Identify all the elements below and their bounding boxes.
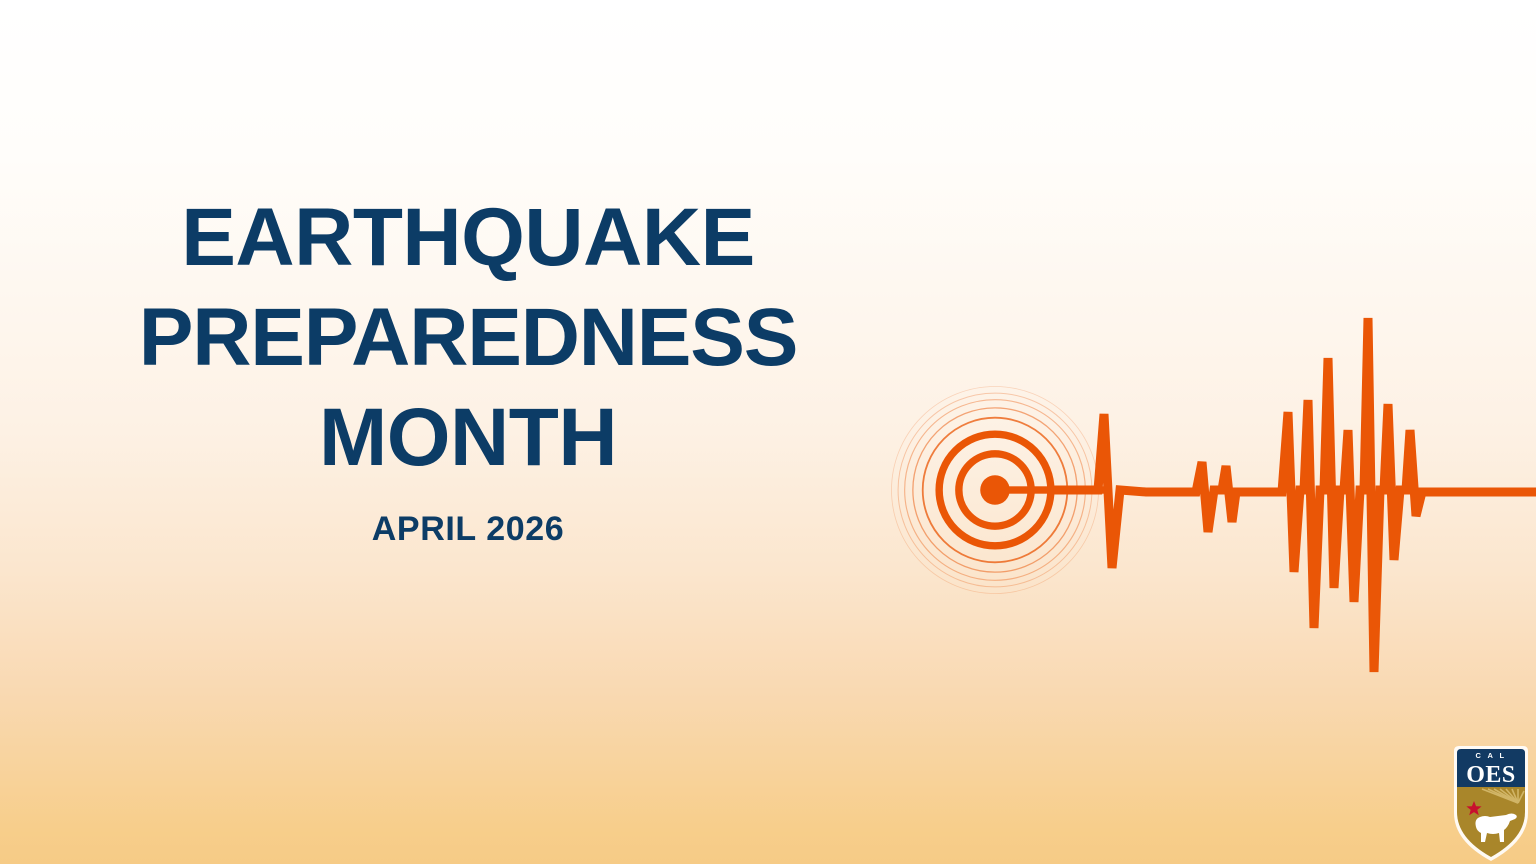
subtitle-date: APRIL 2026	[58, 510, 878, 549]
logo-cal-text: C A L	[1475, 751, 1506, 760]
seismograph-waveform-icon	[1050, 290, 1536, 692]
page-title-line-1: EARTHQUAKE	[58, 188, 878, 288]
page-title-line-2: PREPAREDNESS	[58, 288, 878, 388]
cal-oes-logo[interactable]: C A L OES	[1452, 741, 1530, 864]
page-title-line-3: MONTH	[58, 388, 878, 488]
seismograph-trace	[1050, 318, 1536, 672]
title-block: EARTHQUAKE PREPAREDNESS MONTH APRIL 2026	[58, 188, 878, 549]
earthquake-preparedness-poster: EARTHQUAKE PREPAREDNESS MONTH APRIL 2026	[0, 0, 1536, 864]
logo-oes-text: OES	[1466, 762, 1516, 788]
